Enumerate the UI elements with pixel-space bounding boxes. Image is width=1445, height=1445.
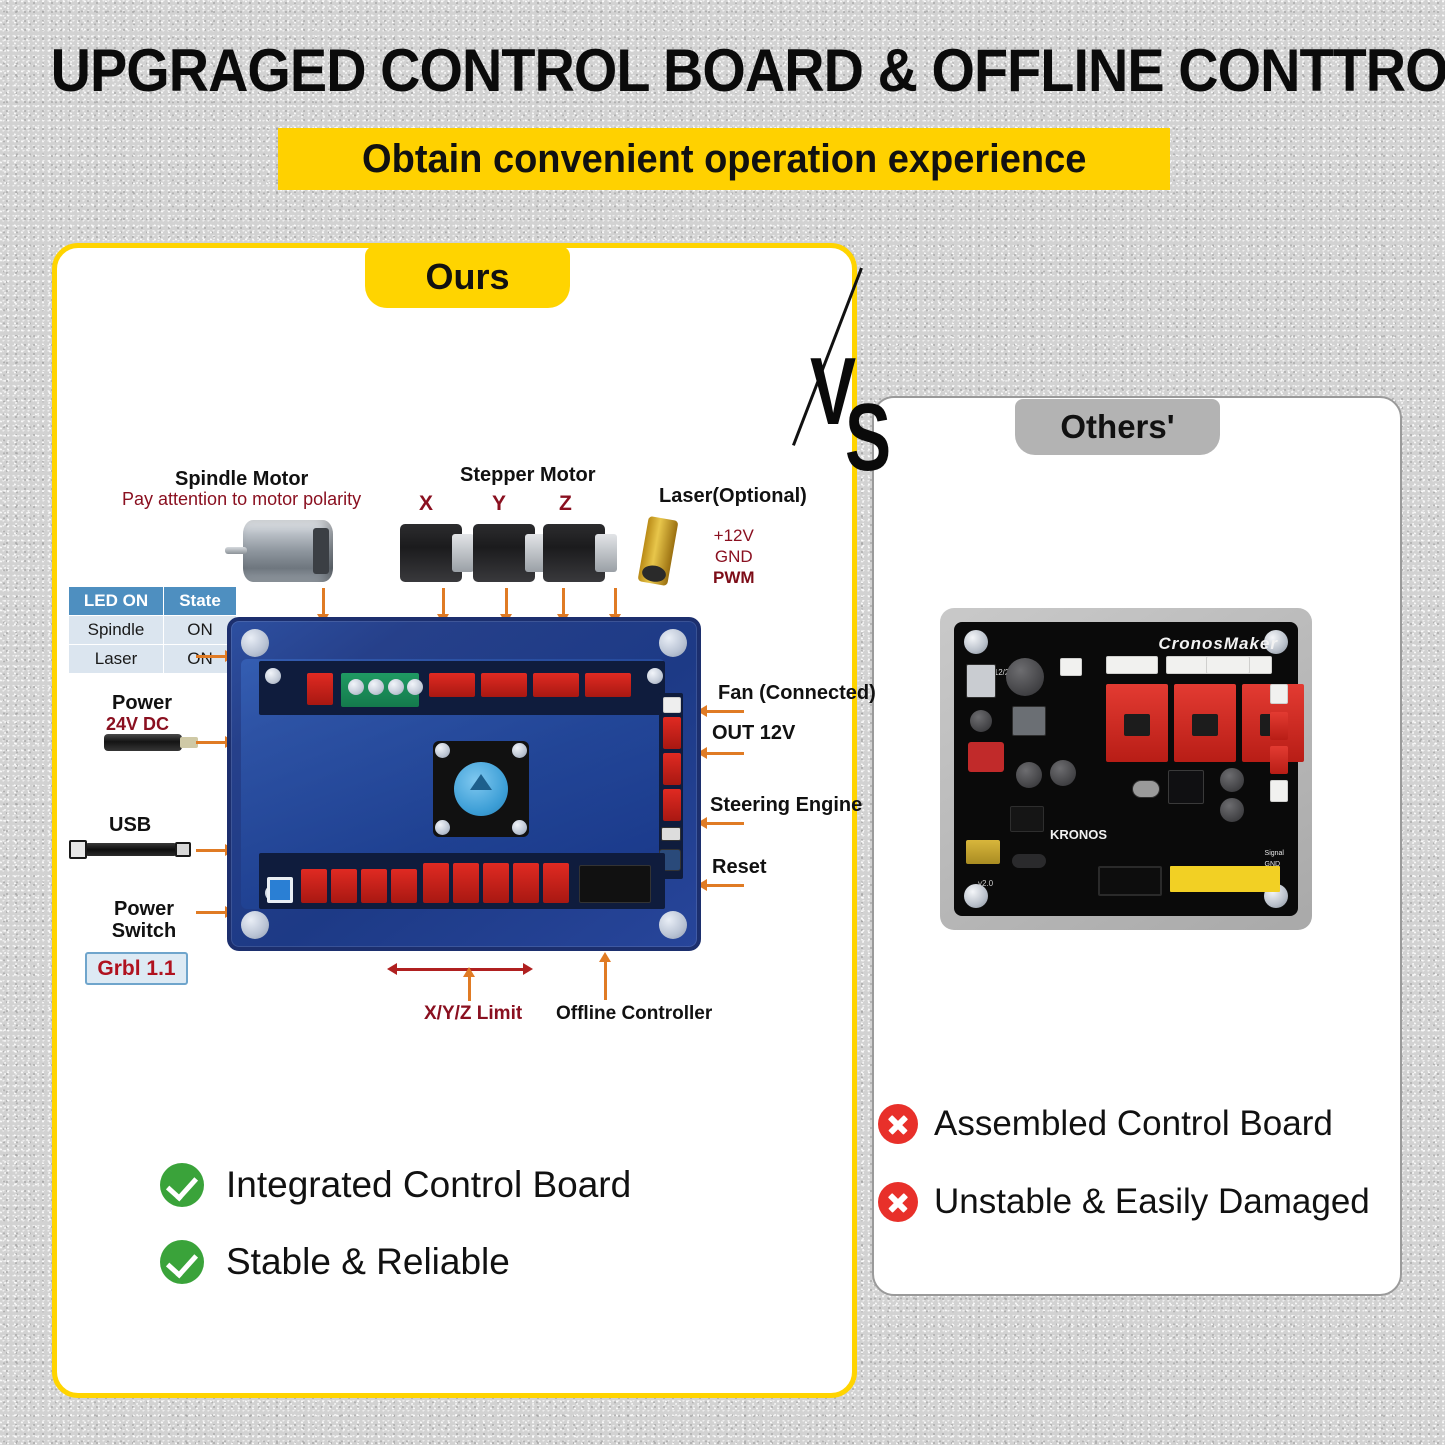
stepper-axis-x-label: X [419,492,433,516]
power-voltage-label: 24V DC [106,714,169,735]
spindle-arrow-icon [322,588,325,616]
led-on-header: LED ON [69,587,164,616]
usb-label: USB [109,814,151,837]
others-bullet-2: Unstable & Easily Damaged [934,1182,1370,1222]
led-table-arrow-icon [196,655,226,658]
laser-pin-pwm: PWM [713,568,755,589]
fan-image [433,741,529,837]
gnd-label: GND [1265,860,1284,871]
led-row-spindle-name: Spindle [69,616,164,645]
usb-arrow-icon [196,849,226,852]
signal-label: Signal [1265,849,1284,860]
power-arrow-icon [196,741,226,744]
stepper-driver-module [1106,684,1168,762]
ours-bullet-2: Stable & Reliable [226,1241,510,1283]
fan-arrow-icon [706,710,744,713]
led-state-table: LED ON State Spindle ON Laser ON [68,586,237,674]
others-bullet-1: Assembled Control Board [934,1104,1333,1144]
stepper-y-arrow-icon [505,588,508,616]
check-icon [160,1240,204,1284]
laser-pin-12v: +12V [713,526,755,547]
power-label: Power [112,692,172,715]
cross-icon [878,1182,918,1222]
stepper-motor-z-image [543,524,605,582]
reset-arrow-icon [706,884,744,887]
out-12v-arrow-icon [706,752,744,755]
table-header-row: LED ON State [69,587,237,616]
xyz-limit-label: X/Y/Z Limit [424,1003,522,1025]
limit-arrow-icon [468,975,471,1001]
steering-engine-arrow-icon [706,822,744,825]
cross-icon [878,1104,918,1144]
fan-label: Fan (Connected) [718,682,876,705]
signal-gnd-labels: Signal GND [1265,849,1284,870]
check-icon [160,1163,204,1207]
list-item: Assembled Control Board [878,1104,1333,1144]
ours-bullet-1: Integrated Control Board [226,1164,631,1206]
subtitle-text: Obtain convenient operation experience [362,137,1086,182]
led-row-laser-name: Laser [69,645,164,674]
usb-cable-icon [85,843,177,856]
stepper-motor-title: Stepper Motor [460,464,596,487]
power-switch-label: PowerSwitch [108,898,180,942]
dc-plug-icon [104,734,182,751]
stepper-axis-z-label: Z [559,492,572,516]
list-item: Stable & Reliable [160,1240,510,1284]
out-12v-label: OUT 12V [712,722,795,745]
vs-graphic: V S [800,330,920,470]
grbl-version-badge: Grbl 1.1 [85,952,188,985]
ours-control-board-image [227,617,701,951]
laser-pinout: +12V GND PWM [713,526,755,589]
stepper-motor-y-image [473,524,535,582]
laser-title: Laser(Optional) [659,485,807,508]
stepper-z-arrow-icon [562,588,565,616]
others-control-board-image: CronosMaker DC:12/24V v2.0 KRONOS [940,608,1312,930]
laser-arrow-icon [614,588,617,616]
state-header: State [164,587,237,616]
spindle-motor-title: Spindle Motor [175,468,308,491]
limit-span-arrow-icon [396,968,524,971]
board-version-label: v2.0 [978,879,993,888]
stepper-x-arrow-icon [442,588,445,616]
led-row-spindle-state: ON [164,616,237,645]
stepper-driver-module [1174,684,1236,762]
kronos-silkscreen-label: KRONOS [1050,827,1107,842]
table-row: Laser ON [69,645,237,674]
laser-pin-gnd: GND [713,547,755,568]
cronosmaker-brand-label: CronosMaker [1158,634,1278,654]
list-item: Unstable & Easily Damaged [878,1182,1370,1222]
tab-ours[interactable]: Ours [365,246,570,308]
vs-letter-s: S [845,390,891,486]
list-item: Integrated Control Board [160,1163,631,1207]
table-row: Spindle ON [69,616,237,645]
spindle-motor-image [243,520,333,582]
page-title: UPGRAGED CONTROL BOARD & OFFLINE CONTTRO… [51,36,1395,105]
stepper-axis-y-label: Y [492,492,506,516]
offline-controller-arrow-icon [604,960,607,1000]
offline-controller-label: Offline Controller [556,1003,712,1025]
power-switch-arrow-icon [196,911,226,914]
spindle-motor-note: Pay attention to motor polarity [122,489,361,510]
subtitle-banner: Obtain convenient operation experience [278,128,1170,190]
reset-label: Reset [712,856,766,879]
steering-engine-label: Steering Engine [710,794,862,817]
tab-others[interactable]: Others' [1015,399,1220,455]
stepper-motor-x-image [400,524,462,582]
